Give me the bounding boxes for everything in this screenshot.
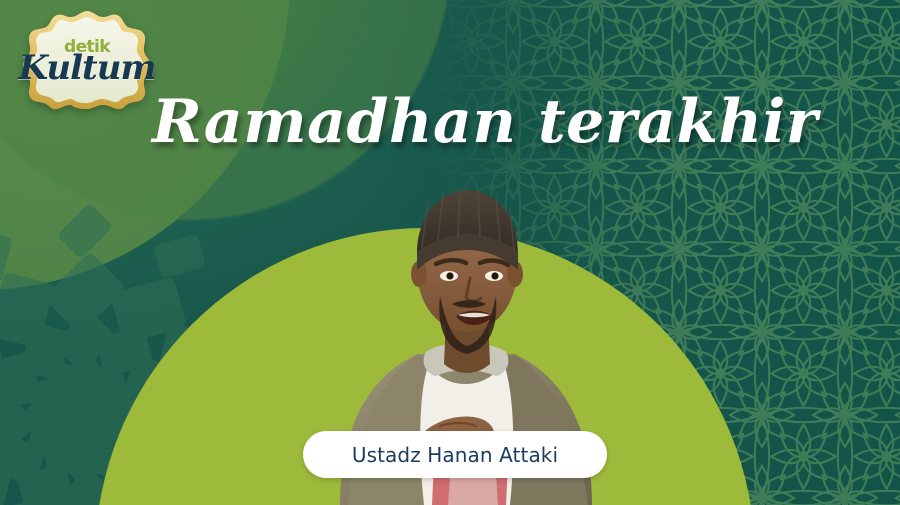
presenter-name-badge: Ustadz Hanan Attaki [303, 431, 607, 478]
kultum-video-thumbnail: Ramadhan terakhir detik Kultum Ustadz Ha… [0, 0, 900, 505]
presenter-name-label: Ustadz Hanan Attaki [352, 443, 558, 467]
page-title: Ramadhan terakhir [152, 92, 752, 152]
logo-kultum-text: Kultum [13, 48, 161, 88]
detik-kultum-logo[interactable]: detik Kultum [13, 8, 161, 112]
